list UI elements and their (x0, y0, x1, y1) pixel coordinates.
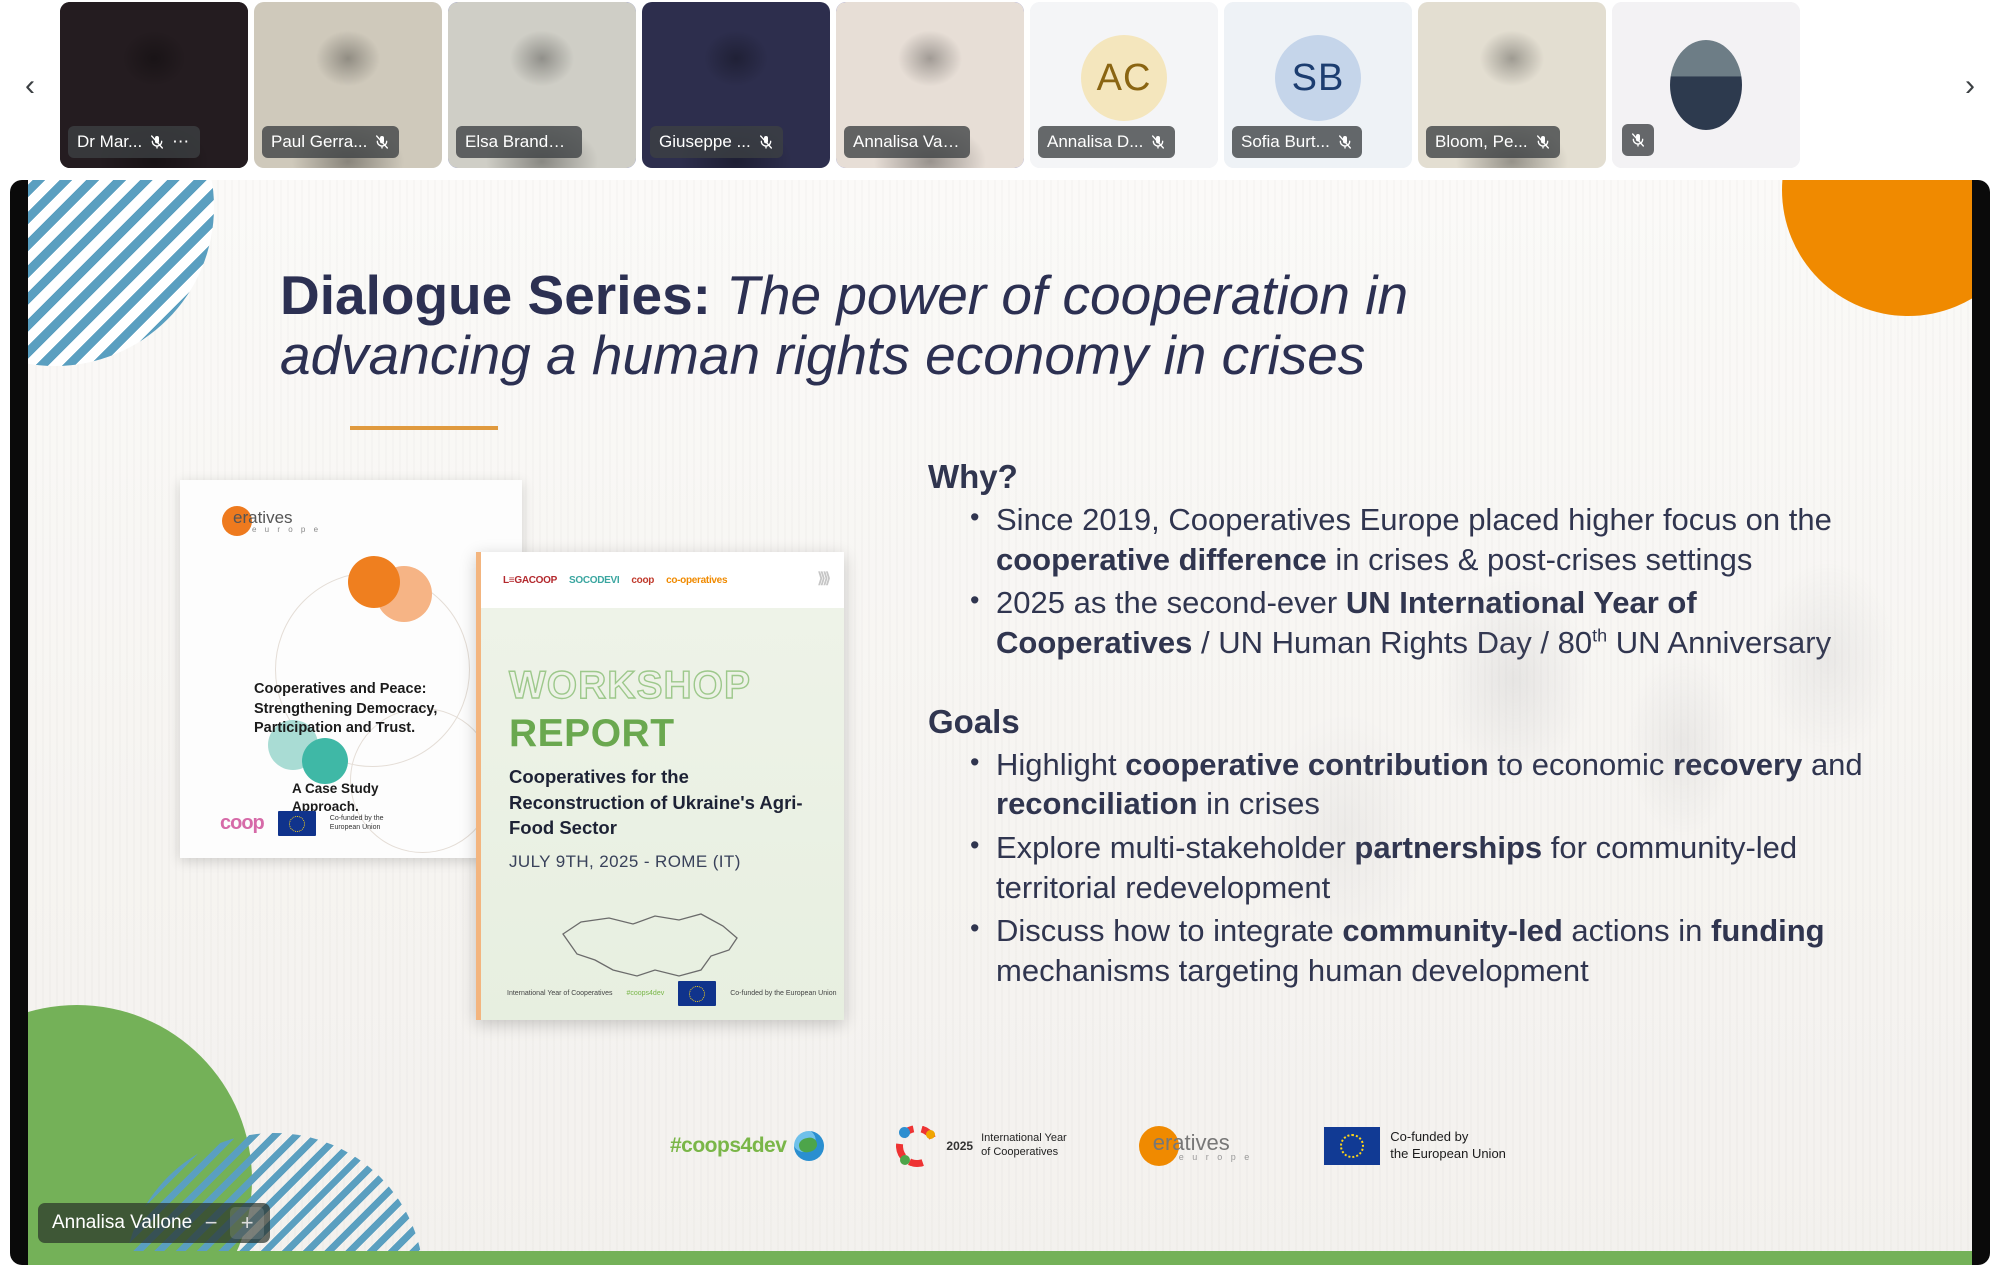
zoom-out-button[interactable]: − (194, 1207, 228, 1239)
presenter-name-bar[interactable]: Annalisa Vallone − + (38, 1203, 270, 1243)
booklet-right-report-word: REPORT (509, 712, 675, 756)
mic-muted-icon (1150, 132, 1166, 152)
bullet-item: Discuss how to integrate community-led a… (970, 911, 1893, 990)
why-bullet-list: Since 2019, Cooperatives Europe placed h… (970, 500, 1893, 663)
ukraine-map-icon (551, 904, 751, 982)
video-tile-bloompe[interactable]: Bloom, Pe... (1418, 2, 1606, 168)
video-tile-drmar[interactable]: Dr Mar...⋯ (60, 2, 248, 168)
eu-cofunded-line-2: the European Union (1390, 1146, 1506, 1163)
tile-participant-name: Bloom, Pe... (1435, 132, 1528, 152)
tile-mic-chip (1622, 124, 1654, 156)
booklet-workshop-report: L≡GACOOP SOCODEVI coop co-operatives ⟫⟫ … (476, 552, 844, 1020)
booklet-left-footer: coop Co-funded by the European Union (220, 811, 388, 836)
bullet-text: 2025 as the second-ever (996, 585, 1346, 620)
iyc-line-1: International Year (981, 1132, 1067, 1146)
partner-logo-cooperatives: co-operatives (666, 575, 727, 586)
logo-cooperatives-europe: eratives e u r o p e (1139, 1126, 1253, 1166)
video-tile-elsabrander[interactable]: Elsa Brander (... (448, 2, 636, 168)
decor-striped-circle-topleft (28, 180, 214, 366)
coop-footer-mark: coop (220, 812, 264, 835)
tile-name-bar: Annalisa Vallone (844, 126, 970, 158)
partner-logo-socodevi: SOCODEVI (569, 575, 619, 586)
video-tile-annalisad[interactable]: ACAnnalisa D... (1030, 2, 1218, 168)
coop-logo-subtext: e u r o p e (252, 525, 321, 534)
decor-orange-circle-topright (1782, 180, 1972, 316)
mic-muted-icon (1630, 130, 1646, 150)
booklet-right-partner-logos: L≡GACOOP SOCODEVI coop co-operatives ⟫⟫ (481, 552, 844, 608)
booklet-right-footer-coops4dev: #coops4dev (626, 990, 664, 997)
mic-muted-icon (758, 132, 774, 152)
video-tile-annalisavallone[interactable]: Annalisa Vallone (836, 2, 1024, 168)
filmstrip-next-arrow[interactable]: › (1940, 0, 2000, 172)
booklet-left-subtitle: A Case Study Approach. (292, 780, 442, 815)
bullet-text: to economic (1489, 747, 1673, 782)
tile-name-bar: Sofia Burt... (1232, 126, 1362, 158)
avatar-initials: AC (1081, 35, 1167, 121)
booklet-cooperatives-and-peace: eratives e u r o p e Cooperatives and Pe… (180, 480, 522, 858)
presentation-slide: Dialogue Series: The power of cooperatio… (28, 180, 1972, 1265)
bullet-text: th (1592, 626, 1607, 646)
filmstrip-prev-arrow[interactable]: ‹ (0, 0, 60, 172)
eu-flag-icon (278, 811, 316, 836)
tile-participant-name: Giuseppe ... (659, 132, 751, 152)
video-tile-self[interactable] (1612, 2, 1800, 168)
title-line-2: advancing a human rights economy in cris… (280, 326, 1620, 386)
bullet-text: actions in (1563, 913, 1711, 948)
tile-name-bar: Bloom, Pe... (1426, 126, 1560, 158)
bullet-emphasis: partnerships (1354, 830, 1542, 865)
avatar-initials: SB (1275, 35, 1361, 121)
partner-logo-legacoop: L≡GACOOP (503, 575, 557, 586)
bullet-text: UN Anniversary (1607, 625, 1831, 660)
title-underline-rule (350, 426, 498, 430)
tile-name-bar: Dr Mar...⋯ (68, 126, 200, 158)
booklet-right-date: JULY 9TH, 2025 - ROME (IT) (509, 852, 741, 872)
goals-bullet-list: Highlight cooperative contribution to ec… (970, 745, 1893, 991)
cooperatives-europe-logo-small: eratives e u r o p e (222, 506, 321, 536)
bullet-emphasis: community-led (1342, 913, 1562, 948)
eu-flag-large-icon (1324, 1127, 1380, 1165)
booklet-right-footer-logos: International Year of Cooperatives #coop… (507, 981, 836, 1006)
booklet-right-eu-flag-icon (678, 981, 716, 1006)
bullet-text: mechanisms targeting human development (996, 953, 1589, 988)
iyc-line-2: of Cooperatives (981, 1146, 1067, 1160)
decor-dot-teal (302, 738, 348, 784)
video-tile-giuseppe[interactable]: Giuseppe ... (642, 2, 830, 168)
bullet-item: Since 2019, Cooperatives Europe placed h… (970, 500, 1893, 579)
tile-name-bar: Annalisa D... (1038, 126, 1175, 158)
avatar-photo (1670, 40, 1742, 130)
video-tile-sofiaburt[interactable]: SBSofia Burt... (1224, 2, 1412, 168)
tile-more-options-icon[interactable]: ⋯ (172, 137, 191, 147)
decor-dot-orange (348, 556, 400, 608)
chevrons-icon: ⟫⟫ (817, 569, 828, 587)
booklet-right-workshop-word: WORKSHOP (509, 664, 751, 708)
tile-participant-name: Sofia Burt... (1241, 132, 1330, 152)
section-heading-why: Why? (928, 458, 1893, 496)
bullet-text: and (1802, 747, 1862, 782)
booklet-right-footer-eu: Co-funded by the European Union (730, 990, 836, 997)
bullet-emphasis: cooperative difference (996, 542, 1327, 577)
booklet-left-title: Cooperatives and Peace: Strengthening De… (254, 680, 470, 739)
zoom-in-button[interactable]: + (230, 1207, 264, 1239)
bullet-emphasis: cooperative contribution (1125, 747, 1488, 782)
bullet-text: Since 2019, Cooperatives Europe placed h… (996, 502, 1832, 537)
slide-footer-logos: #coops4dev 2025 International Year of Co… (670, 1125, 1506, 1167)
slide-content-column: Why? Since 2019, Cooperatives Europe pla… (928, 458, 1893, 995)
mic-muted-icon (149, 132, 165, 152)
booklet-right-footer-iyc: International Year of Cooperatives (507, 990, 612, 997)
decor-green-footer-bar (28, 1251, 1972, 1265)
bullet-text: in crises (1198, 786, 1320, 821)
booklet-right-subtitle: Cooperatives for the Reconstruction of U… (509, 764, 809, 841)
iyc-year: 2025 (946, 1139, 973, 1153)
section-heading-goals: Goals (928, 703, 1893, 741)
bullet-emphasis: funding (1711, 913, 1825, 948)
bullet-text: Highlight (996, 747, 1125, 782)
tile-participant-name: Dr Mar... (77, 132, 142, 152)
mic-muted-icon (1535, 132, 1551, 152)
bullet-text: Discuss how to integrate (996, 913, 1342, 948)
tile-name-bar: Giuseppe ... (650, 126, 783, 158)
bullet-text: in crises & post-crises settings (1327, 542, 1753, 577)
mic-muted-icon (1337, 132, 1353, 152)
logo-eu-cofunded: Co-funded by the European Union (1324, 1127, 1506, 1165)
video-tile-paulgerra[interactable]: Paul Gerra... (254, 2, 442, 168)
bullet-item: Explore multi-stakeholder partnerships f… (970, 828, 1893, 907)
bullet-item: 2025 as the second-ever UN International… (970, 583, 1893, 662)
title-italic-part: The power of cooperation in (711, 264, 1408, 326)
presenter-name: Annalisa Vallone (52, 1212, 192, 1234)
bullet-emphasis: recovery (1673, 747, 1802, 782)
eu-cofunded-line-1: Co-funded by (1390, 1129, 1506, 1146)
title-bold-part: Dialogue Series: (280, 264, 711, 326)
tile-name-bar: Elsa Brander (... (456, 126, 582, 158)
bullet-item: Highlight cooperative contribution to ec… (970, 745, 1893, 824)
bullet-text: / UN Human Rights Day / 80 (1192, 625, 1592, 660)
tile-participant-name: Annalisa D... (1047, 132, 1143, 152)
bullet-emphasis: reconciliation (996, 786, 1198, 821)
tile-participant-name: Annalisa Vallone (853, 132, 961, 152)
bullet-text: Explore multi-stakeholder (996, 830, 1354, 865)
slide-title: Dialogue Series: The power of cooperatio… (280, 266, 1620, 386)
cooperatives-europe-subtext: e u r o p e (1179, 1152, 1253, 1162)
tile-name-bar: Paul Gerra... (262, 126, 399, 158)
video-filmstrip: ‹ Dr Mar...⋯Paul Gerra...Elsa Brander (.… (0, 0, 2000, 172)
logo-coops4dev: #coops4dev (670, 1131, 824, 1161)
mic-muted-icon (374, 132, 390, 152)
globe-icon (794, 1131, 824, 1161)
iyc-emblem-icon (896, 1125, 938, 1167)
logo-international-year: 2025 International Year of Cooperatives (896, 1125, 1066, 1167)
coops4dev-text: #coops4dev (670, 1134, 786, 1158)
eu-funding-caption: Co-funded by the European Union (330, 815, 388, 833)
shared-screen-stage[interactable]: Dialogue Series: The power of cooperatio… (10, 180, 1990, 1265)
partner-logo-coop: coop (631, 575, 654, 586)
tile-participant-name: Elsa Brander (... (465, 132, 573, 152)
video-tiles-container: Dr Mar...⋯Paul Gerra...Elsa Brander (...… (60, 0, 1940, 172)
tile-participant-name: Paul Gerra... (271, 132, 367, 152)
